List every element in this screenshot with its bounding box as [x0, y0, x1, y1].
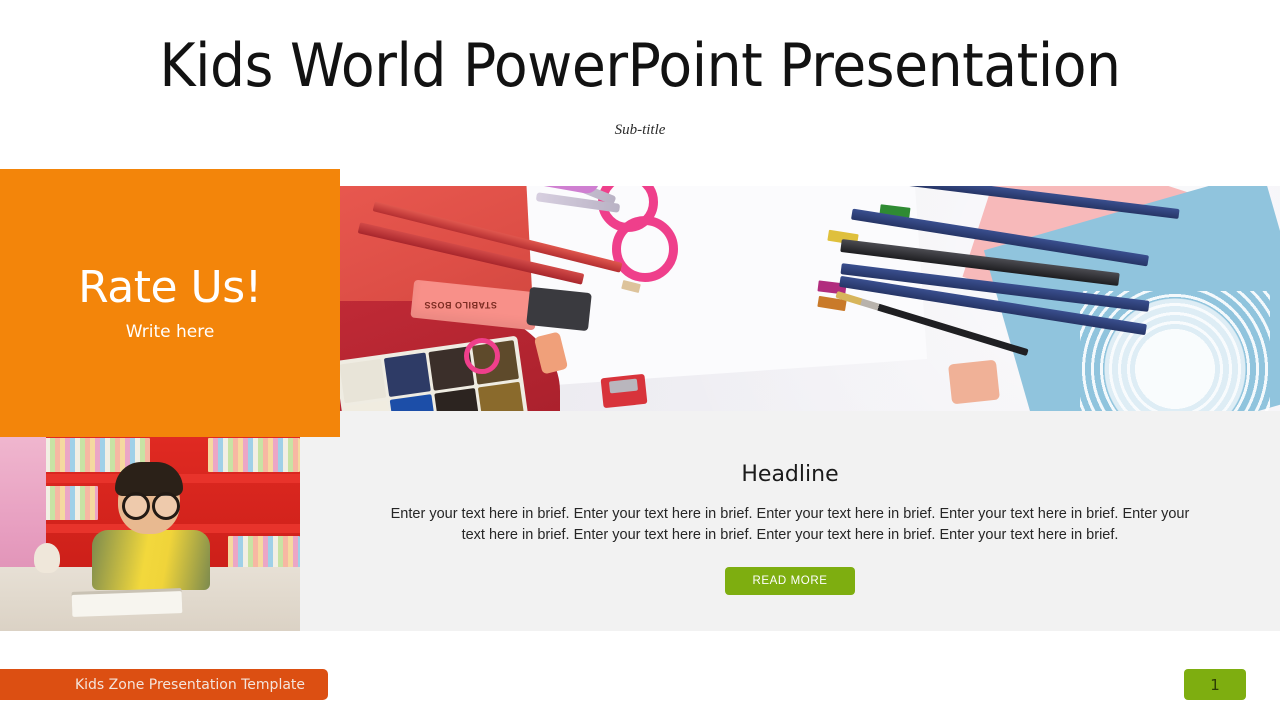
boy-glasses-left [122, 492, 150, 520]
scissors-ring-lower [612, 216, 678, 282]
boy-reading-image [0, 434, 300, 631]
rate-us-subtitle: Write here [126, 320, 215, 344]
footer-bar: Kids Zone Presentation Template [0, 669, 328, 700]
rate-us-title: Rate Us! [78, 262, 262, 314]
plush-toy [34, 543, 60, 573]
bookshelf-books-low [228, 536, 300, 570]
content-card: Headline Enter your text here in brief. … [300, 411, 1280, 631]
mandala-coloring-sheet [1080, 291, 1270, 411]
page-title: Kids World PowerPoint Presentation [51, 30, 1229, 102]
slide-canvas: Kids World PowerPoint Presentation Sub-t… [0, 0, 1280, 720]
rate-us-panel[interactable]: Rate Us! Write here [0, 169, 340, 437]
read-more-button[interactable]: READ MORE [725, 567, 855, 595]
page-number-badge: 1 [1184, 669, 1246, 700]
content-headline: Headline [300, 461, 1280, 489]
stabilo-brand-label: STABILO BOSS [424, 300, 497, 310]
boy-shirt [92, 530, 210, 590]
boy-hair [115, 462, 183, 496]
page-subtitle: Sub-title [0, 119, 1280, 141]
pencil-sharpener [601, 374, 648, 408]
boy-glasses-right [152, 492, 180, 520]
open-book [72, 591, 183, 617]
hero-stationery-image: STABILO BOSS [340, 186, 1280, 411]
content-body-text: Enter your text here in brief. Enter you… [390, 504, 1190, 546]
pink-rubber-band [464, 338, 500, 374]
page-number: 1 [1210, 676, 1220, 694]
footer-label: Kids Zone Presentation Template [23, 677, 305, 693]
stabilo-highlighter-cap [526, 287, 592, 331]
bookshelf-books-top-right [208, 438, 300, 472]
pink-eraser-block [948, 360, 1000, 405]
